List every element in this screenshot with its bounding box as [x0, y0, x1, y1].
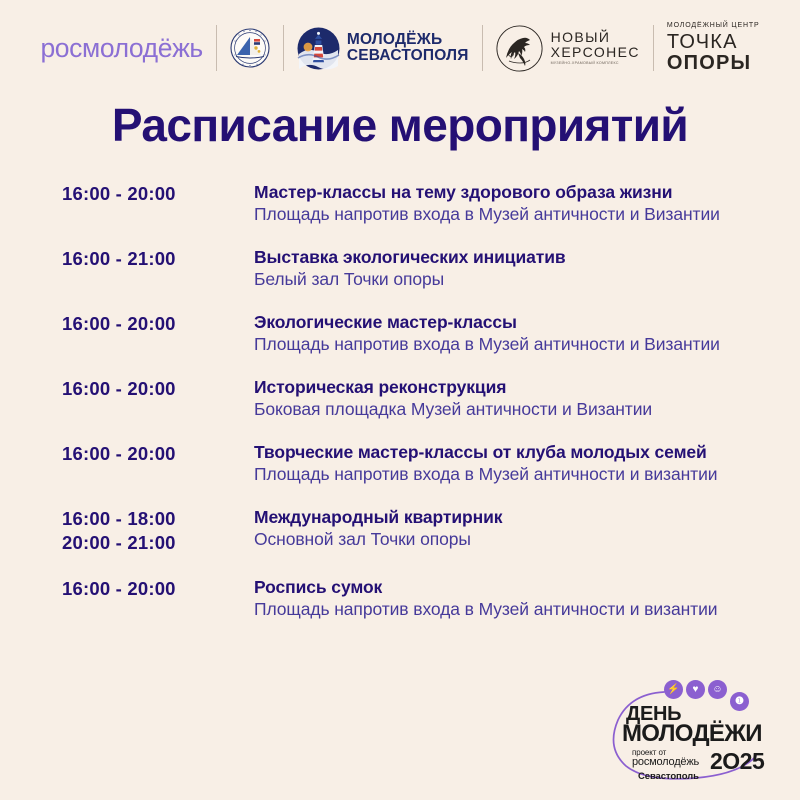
tochka-superscript: МОЛОДЁЖНЫЙ ЦЕНТР — [667, 22, 760, 29]
entry-body: Роспись сумок Площадь напротив входа в М… — [254, 576, 776, 621]
entry-body: Мастер-классы на тему здорового образа ж… — [254, 181, 776, 226]
entry-title: Выставка экологических инициатив — [254, 246, 776, 268]
entry-venue: Площадь напротив входа в Музей античност… — [254, 333, 776, 356]
heart-icon: ♥ — [686, 680, 705, 699]
page-title: Расписание мероприятий — [0, 102, 800, 148]
entry-body: Международный квартирник Основной зал То… — [254, 506, 776, 551]
entry-body: Выставка экологических инициатив Белый з… — [254, 246, 776, 291]
griffin-icon — [496, 25, 543, 72]
entry-times: 16:00 - 20:00 — [62, 181, 254, 207]
molodezh-line1: МОЛОДЁЖЬ — [347, 32, 469, 48]
entry-title: Экологические мастер-классы — [254, 311, 776, 333]
logo-molodezh-sevastopolya: МОЛОДЁЖЬ СЕВАСТОПОЛЯ — [284, 27, 482, 70]
entry-time: 16:00 - 21:00 — [62, 247, 254, 272]
entry-venue: Площадь напротив входа в Музей античност… — [254, 463, 776, 486]
entry-times: 16:00 - 20:00 — [62, 576, 254, 602]
footer-badge-den-molodezhi: ⚡ ♥ ☺ ❶ ДЕНЬ МОЛОДЁЖИ проект от росмолод… — [600, 678, 782, 790]
lightning-icon: ⚡ — [664, 680, 683, 699]
logo-rosmolodezh: росмолодёжь — [27, 33, 215, 64]
tochka-line1: ТОЧКА — [667, 32, 738, 53]
entry-venue: Боковая площадка Музей античности и Виза… — [254, 398, 776, 421]
logo-novy-khersones: НОВЫЙ ХЕРСОНЕС МУЗЕЙНО-ХРАМОВЫЙ КОМПЛЕКС — [483, 25, 653, 72]
schedule-entry: 16:00 - 20:00 Экологические мастер-класс… — [62, 311, 776, 356]
header-logo-bar: росмолодёжь — [0, 0, 800, 92]
entry-title: Творческие мастер-классы от клуба молоды… — [254, 441, 776, 463]
badge-rosmolodezh-text: росмолодёжь — [632, 757, 699, 768]
entry-title: Международный квартирник — [254, 506, 776, 528]
schedule-entry: 16:00 - 20:00 Мастер-классы на тему здор… — [62, 181, 776, 226]
entry-time: 16:00 - 20:00 — [62, 577, 254, 602]
smile-icon: ☺ — [708, 680, 727, 699]
entry-times: 16:00 - 20:00 — [62, 441, 254, 467]
entry-time-secondary: 20:00 - 21:00 — [62, 531, 254, 556]
rosmolodezh-wordmark: росмолодёжь — [40, 33, 202, 64]
entry-time: 16:00 - 20:00 — [62, 442, 254, 467]
khersones-line1: НОВЫЙ — [551, 30, 640, 45]
schedule-entry: 16:00 - 20:00 Роспись сумок Площадь напр… — [62, 576, 776, 621]
entry-time: 16:00 - 20:00 — [62, 377, 254, 402]
entry-title: Историческая реконструкция — [254, 376, 776, 398]
entry-times: 16:00 - 20:00 — [62, 311, 254, 337]
entry-body: Экологические мастер-классы Площадь напр… — [254, 311, 776, 356]
entry-time: 16:00 - 18:00 — [62, 507, 254, 532]
schedule-entry: 16:00 - 20:00 Творческие мастер-классы о… — [62, 441, 776, 486]
entry-venue: Белый зал Точки опоры — [254, 268, 776, 291]
drop-icon: ❶ — [730, 692, 749, 711]
logo-sevastopol-seal — [217, 28, 283, 68]
khersones-line2: ХЕРСОНЕС — [551, 45, 640, 60]
entry-body: Творческие мастер-классы от клуба молоды… — [254, 441, 776, 486]
schedule-entry: 16:00 - 18:00 20:00 - 21:00 Международны… — [62, 506, 776, 556]
badge-year-text: 2O25 — [710, 750, 764, 773]
lighthouse-icon — [297, 27, 340, 70]
logo-tochka-opory: МОЛОДЁЖНЫЙ ЦЕНТР ТОЧКА ОПОРЫ — [654, 22, 773, 74]
badge-city-text: Севастополь — [638, 771, 699, 782]
city-seal-icon — [230, 28, 270, 68]
entry-times: 16:00 - 21:00 — [62, 246, 254, 272]
tochka-line2: ОПОРЫ — [667, 53, 751, 74]
entry-title: Мастер-классы на тему здорового образа ж… — [254, 181, 776, 203]
entry-time: 16:00 - 20:00 — [62, 312, 254, 337]
badge-molodezhi-text: МОЛОДЁЖИ — [622, 722, 762, 746]
entry-venue: Площадь напротив входа в Музей античност… — [254, 598, 776, 621]
schedule-entry: 16:00 - 20:00 Историческая реконструкция… — [62, 376, 776, 421]
entry-times: 16:00 - 20:00 — [62, 376, 254, 402]
schedule-list: 16:00 - 20:00 Мастер-классы на тему здор… — [0, 181, 800, 621]
entry-body: Историческая реконструкция Боковая площа… — [254, 376, 776, 421]
entry-times: 16:00 - 18:00 20:00 - 21:00 — [62, 506, 254, 556]
molodezh-line2: СЕВАСТОПОЛЯ — [347, 48, 469, 64]
khersones-subtitle: МУЗЕЙНО-ХРАМОВЫЙ КОМПЛЕКС — [551, 62, 640, 66]
schedule-entry: 16:00 - 21:00 Выставка экологических ини… — [62, 246, 776, 291]
entry-time: 16:00 - 20:00 — [62, 182, 254, 207]
entry-title: Роспись сумок — [254, 576, 776, 598]
entry-venue: Площадь напротив входа в Музей античност… — [254, 203, 776, 226]
entry-venue: Основной зал Точки опоры — [254, 528, 776, 551]
